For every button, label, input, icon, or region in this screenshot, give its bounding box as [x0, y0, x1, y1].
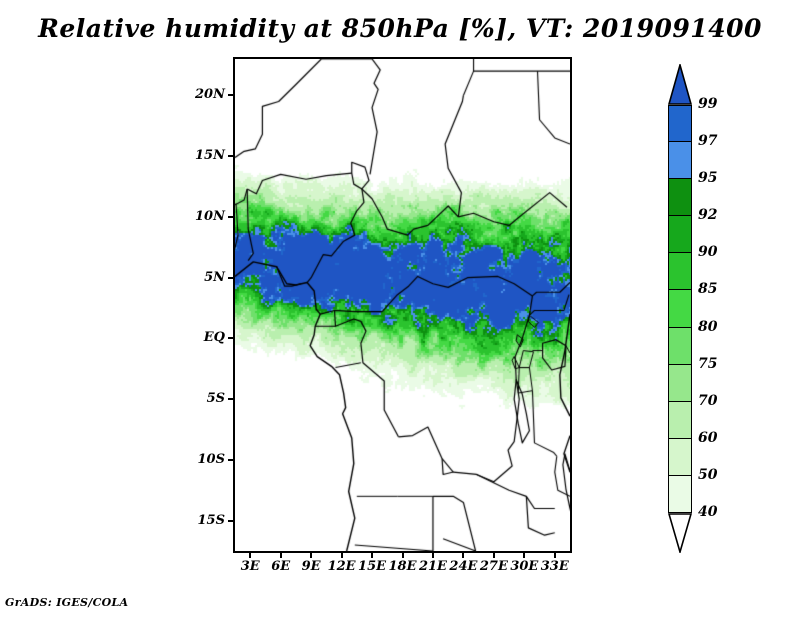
colorbar-band	[668, 439, 692, 476]
credit-text: GrADS: IGES/COLA	[5, 596, 128, 609]
colorbar-tick-label: 95	[698, 170, 717, 186]
colorbar-band	[668, 105, 692, 142]
colorbar-tick-label: 70	[698, 393, 717, 409]
x-tick-mark	[249, 552, 251, 558]
colorbar-band	[668, 290, 692, 327]
map-plot-area	[233, 57, 572, 553]
colorbar-band	[668, 328, 692, 365]
y-tick-mark	[228, 459, 234, 461]
colorbar-top-arrow	[668, 64, 692, 105]
y-tick-mark	[228, 94, 234, 96]
y-tick-label: 15N	[181, 148, 225, 163]
colorbar-bands	[668, 105, 692, 513]
y-tick-mark	[228, 398, 234, 400]
y-tick-label: 20N	[181, 87, 225, 102]
x-tick-mark	[432, 552, 434, 558]
colorbar-tick-label: 60	[698, 430, 717, 446]
x-tick-mark	[280, 552, 282, 558]
colorbar-tick-label: 85	[698, 281, 717, 297]
colorbar-tick-label: 80	[698, 319, 717, 335]
x-tick-mark	[371, 552, 373, 558]
x-tick-mark	[341, 552, 343, 558]
x-tick-mark	[462, 552, 464, 558]
colorbar-tick-label: 92	[698, 207, 717, 223]
colorbar-band	[668, 365, 692, 402]
y-tick-label: 15S	[181, 513, 225, 528]
colorbar-tick-label: 99	[698, 96, 717, 112]
colorbar-band	[668, 476, 692, 513]
colorbar-band	[668, 253, 692, 290]
y-tick-label: EQ	[181, 330, 225, 345]
page-title: Relative humidity at 850hPa [%], VT: 201…	[0, 14, 800, 43]
figure-root: Relative humidity at 850hPa [%], VT: 201…	[0, 0, 800, 618]
y-tick-mark	[228, 216, 234, 218]
x-tick-mark	[493, 552, 495, 558]
colorbar-tick-label: 97	[698, 133, 717, 149]
colorbar-tick-label: 90	[698, 244, 717, 260]
x-tick-mark	[554, 552, 556, 558]
y-tick-mark	[228, 277, 234, 279]
y-tick-mark	[228, 155, 234, 157]
x-tick-mark	[310, 552, 312, 558]
colorbar-tick-label: 75	[698, 356, 717, 372]
y-tick-mark	[228, 520, 234, 522]
y-tick-label: 10N	[181, 209, 225, 224]
x-tick-mark	[402, 552, 404, 558]
colorbar-band	[668, 216, 692, 253]
x-tick-mark	[523, 552, 525, 558]
humidity-field-canvas	[235, 59, 570, 551]
colorbar-band	[668, 179, 692, 216]
y-tick-label: 10S	[181, 452, 225, 467]
colorbar-band	[668, 142, 692, 179]
colorbar-tick-label: 50	[698, 467, 717, 483]
y-tick-mark	[228, 337, 234, 339]
colorbar-bottom-arrow	[668, 513, 692, 553]
y-tick-label: 5N	[181, 270, 225, 285]
x-tick-label: 33E	[535, 559, 575, 574]
y-tick-label: 5S	[181, 391, 225, 406]
colorbar-band	[668, 402, 692, 439]
colorbar-tick-label: 40	[698, 504, 717, 520]
